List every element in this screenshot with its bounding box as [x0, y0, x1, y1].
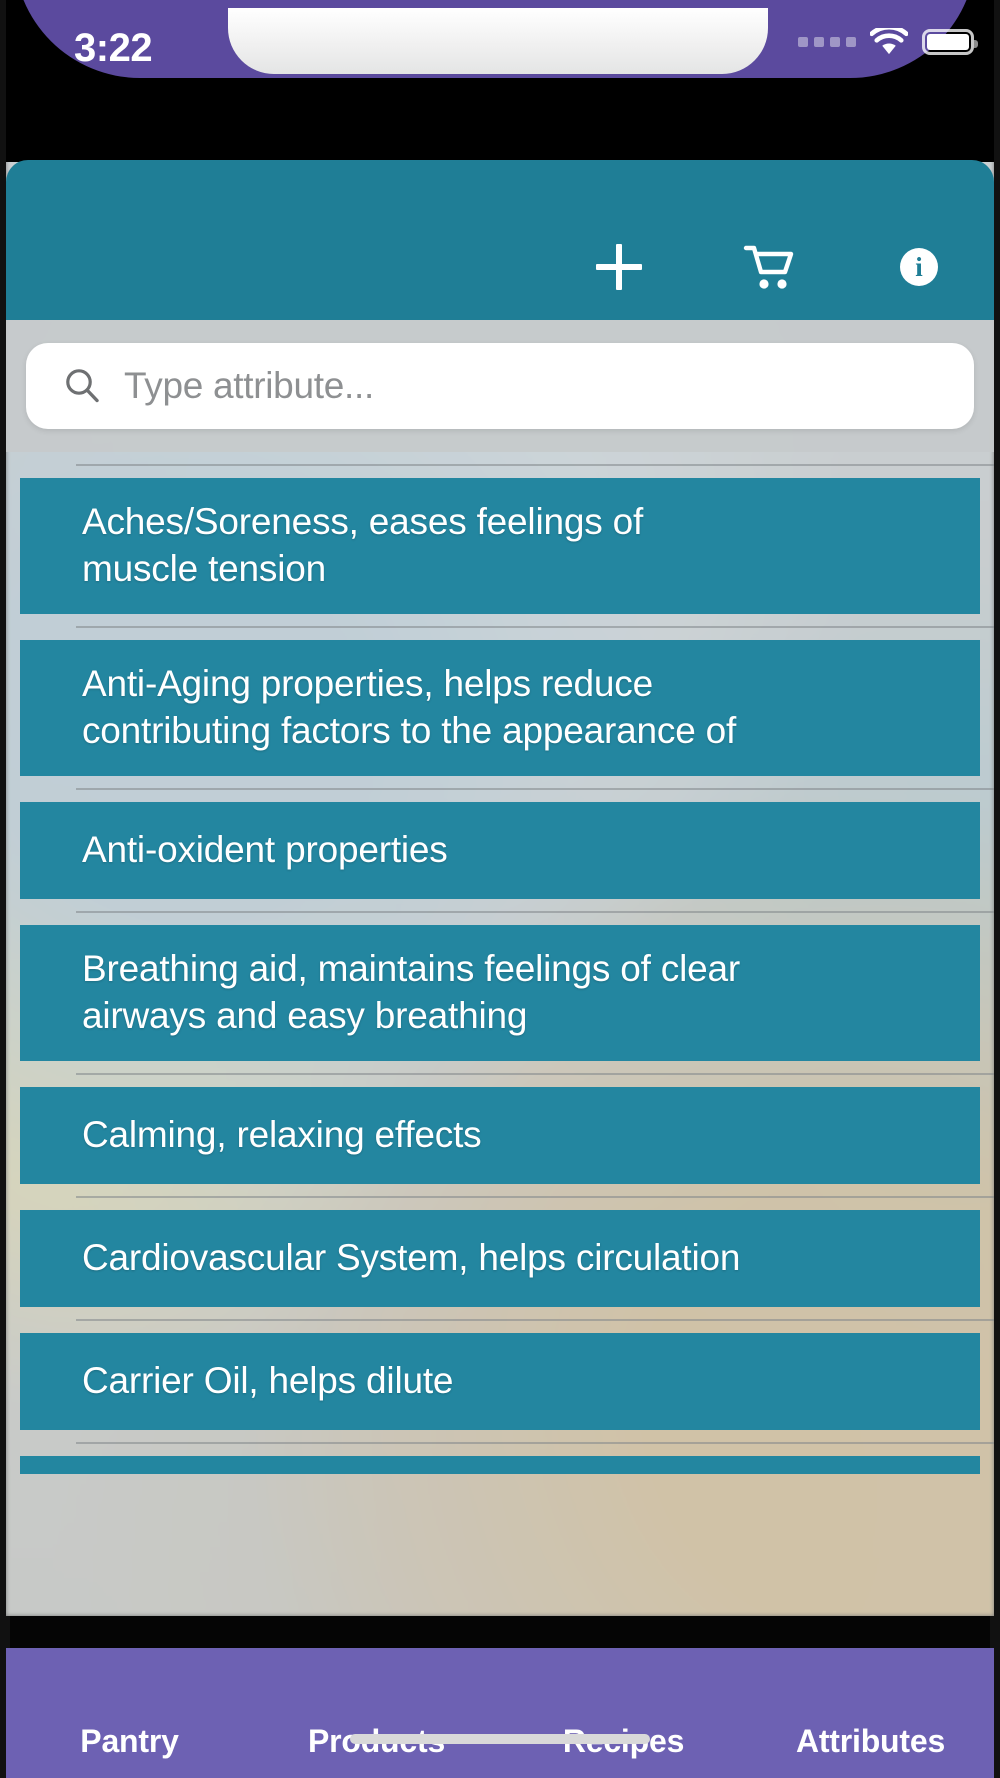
- status-time: 3:22: [74, 26, 152, 71]
- tab-pantry[interactable]: Pantry: [6, 1648, 253, 1778]
- info-circle-icon: i: [900, 248, 938, 286]
- tab-products[interactable]: Products: [253, 1648, 500, 1778]
- attribute-list-item[interactable]: Aches/Soreness, eases feelings of muscle…: [20, 478, 980, 614]
- search-icon: [62, 366, 102, 406]
- attribute-list-item[interactable]: Celluar, supports healthy cell function: [20, 1456, 980, 1474]
- app-toolbar: i: [6, 160, 994, 320]
- attribute-list-item[interactable]: Carrier Oil, helps dilute: [20, 1333, 980, 1430]
- list-separator: [6, 1184, 994, 1210]
- cart-button[interactable]: [694, 224, 844, 310]
- tab-label: Attributes: [796, 1723, 945, 1760]
- search-bar-container: Type attribute...: [6, 320, 994, 452]
- attributes-list-inner: Aches/Soreness, eases feelings of muscle…: [6, 452, 994, 1474]
- phone-screenshot: 3:22 i: [0, 0, 1000, 1778]
- attribute-list-item[interactable]: Cardiovascular System, helps circulation: [20, 1210, 980, 1307]
- search-placeholder: Type attribute...: [124, 365, 374, 407]
- list-separator: [6, 452, 994, 478]
- attribute-list-item[interactable]: Calming, relaxing effects: [20, 1087, 980, 1184]
- search-input[interactable]: Type attribute...: [26, 343, 974, 429]
- notch-cutout: [228, 8, 768, 74]
- home-indicator: [350, 1734, 650, 1744]
- battery-icon: [922, 29, 974, 55]
- info-button[interactable]: i: [844, 224, 994, 310]
- wifi-icon: [870, 28, 908, 56]
- bottom-tab-bar: PantryProductsRecipesAttributes: [6, 1648, 994, 1778]
- tab-recipes[interactable]: Recipes: [500, 1648, 747, 1778]
- shopping-cart-icon: [743, 243, 795, 291]
- toolbar-actions: i: [544, 224, 994, 310]
- attribute-list-item[interactable]: Breathing aid, maintains feelings of cle…: [20, 925, 980, 1061]
- list-separator: [6, 899, 994, 925]
- attribute-list-item[interactable]: Anti-oxident properties: [20, 802, 980, 899]
- attribute-list-item[interactable]: Anti-Aging properties, helps reduce cont…: [20, 640, 980, 776]
- plus-icon: [596, 244, 642, 290]
- attributes-list[interactable]: Aches/Soreness, eases feelings of muscle…: [6, 452, 994, 1474]
- list-separator: [6, 1430, 994, 1456]
- add-attribute-button[interactable]: [544, 224, 694, 310]
- list-separator: [6, 1061, 994, 1087]
- list-separator: [6, 776, 994, 802]
- status-gap: [6, 92, 994, 162]
- tab-label: Pantry: [80, 1723, 178, 1760]
- list-separator: [6, 1307, 994, 1333]
- status-bar-indicators: [798, 28, 974, 56]
- signal-strength-dots: [798, 37, 856, 47]
- list-separator: [6, 614, 994, 640]
- tab-attributes[interactable]: Attributes: [747, 1648, 994, 1778]
